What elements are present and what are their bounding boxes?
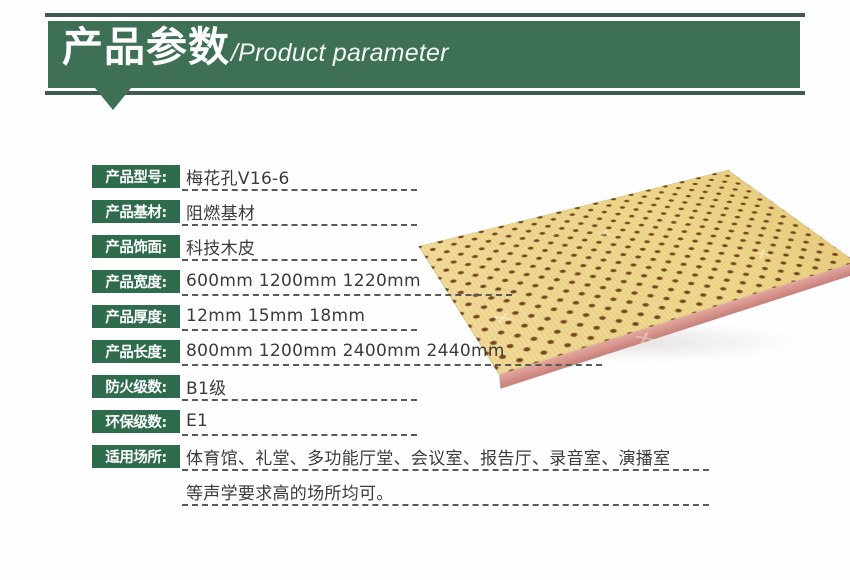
spec-value-thickness: 12mm 15mm 18mm bbox=[186, 306, 365, 326]
spec-table: 产品型号: 梅花孔V16-6 产品基材: 阻燃基材 产品饰面: 科技木皮 产品宽… bbox=[92, 163, 752, 513]
spec-label-width: 产品宽度: bbox=[92, 270, 180, 293]
spec-label-model: 产品型号: bbox=[92, 165, 180, 188]
spec-row-veneer: 产品饰面: 科技木皮 bbox=[92, 233, 752, 268]
spec-label-eco-rating: 环保级数: bbox=[92, 410, 180, 433]
spec-value-substrate-box: 阻燃基材 bbox=[182, 198, 417, 226]
spec-row-application-continued: 等声学要求高的场所均可。 bbox=[92, 478, 752, 513]
spec-value-substrate: 阻燃基材 bbox=[186, 199, 255, 224]
spec-value-veneer: 科技木皮 bbox=[186, 234, 255, 259]
spec-value-width-box: 600mm 1200mm 1220mm bbox=[182, 268, 512, 296]
spec-row-length: 产品长度: 800mm 1200mm 2400mm 2440mm bbox=[92, 338, 752, 373]
spec-value-thickness-box: 12mm 15mm 18mm bbox=[182, 303, 417, 331]
spec-label-length: 产品长度: bbox=[92, 340, 180, 363]
banner-rule-bottom bbox=[45, 91, 805, 95]
spec-row-application: 适用场所: 体育馆、礼堂、多功能厅堂、会议室、报告厅、录音室、演播室 bbox=[92, 443, 752, 478]
spec-value-model: 梅花孔V16-6 bbox=[186, 164, 290, 189]
page-title-en: /Product parameter bbox=[231, 41, 449, 66]
spec-value-application-box: 体育馆、礼堂、多功能厅堂、会议室、报告厅、录音室、演播室 bbox=[182, 443, 709, 471]
spec-row-model: 产品型号: 梅花孔V16-6 bbox=[92, 163, 752, 198]
spec-label-fire-rating: 防火级数: bbox=[92, 375, 180, 398]
product-parameter-page: 产品参数 /Product parameter ✕ ✕ ✕ ✕ bbox=[0, 0, 850, 580]
spec-value-application-continued-box: 等声学要求高的场所均可。 bbox=[182, 478, 709, 506]
banner-arrow-icon bbox=[95, 88, 131, 110]
spec-row-substrate: 产品基材: 阻燃基材 bbox=[92, 198, 752, 233]
page-title-cn: 产品参数 bbox=[62, 27, 230, 68]
spec-value-length: 800mm 1200mm 2400mm 2440mm bbox=[186, 341, 505, 361]
page-title: 产品参数 /Product parameter bbox=[62, 27, 449, 82]
spec-value-veneer-box: 科技木皮 bbox=[182, 233, 417, 261]
spec-label-substrate: 产品基材: bbox=[92, 200, 180, 223]
spec-label-application: 适用场所: bbox=[92, 445, 180, 468]
spec-value-application-continued: 等声学要求高的场所均可。 bbox=[186, 479, 394, 504]
spec-value-model-box: 梅花孔V16-6 bbox=[182, 163, 417, 191]
page-header-banner: 产品参数 /Product parameter bbox=[0, 0, 850, 112]
spec-value-length-box: 800mm 1200mm 2400mm 2440mm bbox=[182, 338, 602, 366]
banner-rule-top bbox=[45, 13, 805, 17]
spec-value-width: 600mm 1200mm 1220mm bbox=[186, 271, 421, 291]
spec-label-veneer: 产品饰面: bbox=[92, 235, 180, 258]
spec-label-thickness: 产品厚度: bbox=[92, 305, 180, 328]
spec-value-eco-rating: E1 bbox=[186, 411, 208, 431]
spec-value-application: 体育馆、礼堂、多功能厅堂、会议室、报告厅、录音室、演播室 bbox=[186, 444, 670, 469]
spec-row-width: 产品宽度: 600mm 1200mm 1220mm bbox=[92, 268, 752, 303]
spec-value-eco-rating-box: E1 bbox=[182, 408, 417, 436]
spec-row-eco-rating: 环保级数: E1 bbox=[92, 408, 752, 443]
spec-value-fire-rating: B1级 bbox=[186, 374, 226, 399]
spec-value-fire-rating-box: B1级 bbox=[182, 373, 417, 401]
spec-row-fire-rating: 防火级数: B1级 bbox=[92, 373, 752, 408]
spec-row-thickness: 产品厚度: 12mm 15mm 18mm bbox=[92, 303, 752, 338]
watermark-logo: ✕ bbox=[750, 248, 777, 262]
